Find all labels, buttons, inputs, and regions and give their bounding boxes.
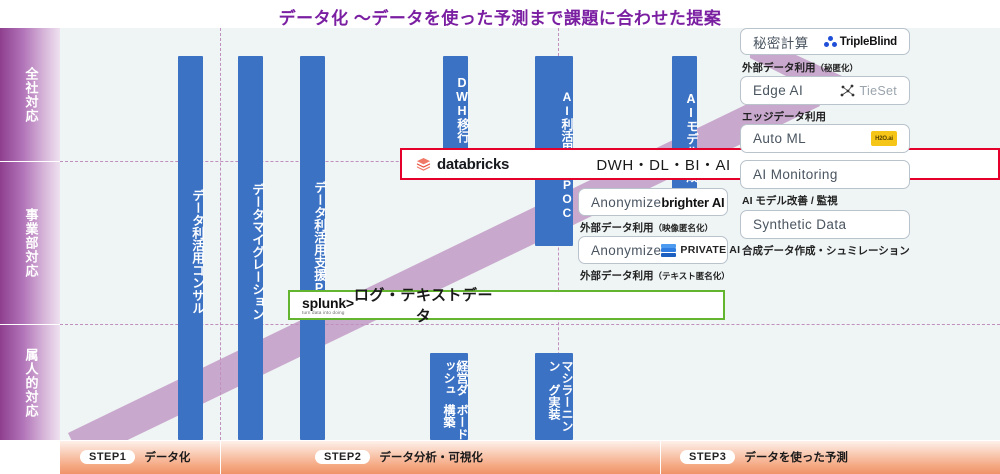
tieset-logo: TieSet (840, 84, 897, 98)
caption-synthetic-data-main: 合成データ作成・シュミレーション (742, 245, 910, 257)
caption-anonymize-video-sub: （映像匿名化） (654, 223, 714, 233)
caption-secure-computation: 外部データ利用（秘匿化） (742, 60, 858, 75)
brighter-ai-logo-text: brighter AI (661, 195, 724, 210)
splunk-logo-text: splunk> (302, 296, 354, 310)
page-title: データ化 ～データを使った予測まで課題に合わせた提案 (0, 4, 1000, 29)
caption-anonymize-text: 外部データ利用（テキスト匿名化） (580, 268, 730, 283)
card-ai-monitoring[interactable]: AI Monitoring (740, 160, 910, 189)
caption-secure-computation-sub: （秘匿化） (816, 63, 859, 73)
step-3-pill: STEP3 (680, 450, 735, 464)
bar-management-dashboard-label-1: 経営ダッシュ (442, 360, 468, 404)
databricks-logo-text: databricks (437, 156, 509, 173)
band-individual: 属人的対応 (0, 325, 60, 440)
tripleblind-logo: TripleBlind (824, 36, 897, 48)
splunk-logo-tagline: turn data into doing (302, 310, 345, 315)
bar-machine-learning[interactable]: マシン ラーニング実装 (535, 353, 573, 440)
splunk-logo: splunk> turn data into doing (290, 296, 354, 315)
caption-ai-monitoring: AI モデル改善 / 監視 (742, 193, 838, 208)
bar-data-utilization-poc[interactable]: データ利活用支援POC (300, 56, 325, 440)
step-1[interactable]: STEP1 データ化 (80, 449, 190, 465)
caption-anonymize-video: 外部データ利用（映像匿名化） (580, 220, 713, 235)
plot-area: データ利活用コンサル データマイグレーション データ利活用支援POC DWH移行… (60, 28, 1000, 440)
caption-secure-computation-main: 外部データ利用 (742, 62, 816, 74)
card-anonymize-video-name: Anonymize (591, 195, 661, 210)
step-2[interactable]: STEP2 データ分析・可視化 (315, 449, 483, 465)
card-anonymize-text-name: Anonymize (591, 243, 661, 258)
step-1-label: データ化 (144, 449, 190, 465)
step-divider-2 (660, 441, 661, 474)
card-synthetic-data-name: Synthetic Data (753, 217, 897, 232)
caption-synthetic-data: 合成データ作成・シュミレーション (742, 243, 910, 258)
bar-ai-utilization-poc-label-1: AI利活用 (560, 90, 573, 154)
step-3-label: データを使った予測 (744, 449, 848, 465)
caption-anonymize-video-main: 外部データ利用 (580, 222, 654, 234)
chart-frame: 全社対応 事業部対応 属人的対応 データ利活用コンサル データマイグレーション … (0, 28, 1000, 440)
tripleblind-dots-icon (824, 36, 837, 47)
card-anonymize-video[interactable]: Anonymize brighter AI (578, 188, 728, 216)
card-anonymize-text[interactable]: Anonymize PRIVATE AI (578, 236, 728, 264)
band-business-unit: 事業部対応 (0, 162, 60, 324)
caption-edge-ai: エッジデータ利用 (742, 109, 826, 124)
step-1-pill: STEP1 (80, 450, 135, 464)
bar-machine-learning-label-2: ラーニング実装 (547, 384, 573, 440)
card-edge-ai[interactable]: Edge AI TieSet (740, 76, 910, 105)
databricks-bar[interactable]: databricks DWH・DL・BI・AI (400, 148, 1000, 180)
splunk-bar-text: ログ・テキストデータ (354, 284, 723, 326)
card-secure-computation-name: 秘密計算 (753, 32, 824, 52)
brighter-ai-logo: brighter AI (661, 195, 724, 210)
caption-anonymize-text-main: 外部データ利用 (580, 270, 654, 282)
tieset-logo-text: TieSet (860, 84, 897, 98)
gridline-vertical-1 (220, 28, 221, 440)
step-bar: STEP1 データ化 STEP2 データ分析・可視化 STEP3 データを使った… (60, 441, 1000, 474)
step-2-label: データ分析・可視化 (379, 449, 483, 465)
private-ai-logo: PRIVATE AI (661, 244, 740, 257)
splunk-bar[interactable]: splunk> turn data into doing ログ・テキストデータ (288, 290, 725, 320)
caption-anonymize-text-sub: （テキスト匿名化） (654, 271, 730, 281)
bar-data-consulting[interactable]: データ利活用コンサル (178, 56, 203, 440)
private-ai-logo-text: PRIVATE AI (680, 244, 740, 256)
bar-dwh-migration[interactable]: DWH移行 (443, 56, 468, 156)
card-ai-monitoring-name: AI Monitoring (753, 167, 897, 182)
step-2-pill: STEP2 (315, 450, 370, 464)
databricks-logo: databricks (402, 156, 509, 173)
bar-management-dashboard-label-2: ボード構築 (442, 404, 468, 440)
h2o-ai-logo-text: H2O.ai (871, 131, 897, 146)
bar-data-migration[interactable]: データマイグレーション (238, 56, 263, 440)
caption-ai-monitoring-main: AI モデル改善 / 監視 (742, 195, 838, 207)
card-synthetic-data[interactable]: Synthetic Data (740, 210, 910, 239)
bar-machine-learning-label-1: マシン (547, 360, 573, 384)
tripleblind-logo-text: TripleBlind (840, 36, 897, 48)
h2o-ai-logo: H2O.ai (871, 131, 897, 146)
card-edge-ai-name: Edge AI (753, 83, 840, 98)
card-auto-ml[interactable]: Auto ML H2O.ai (740, 124, 910, 153)
bar-management-dashboard[interactable]: 経営ダッシュ ボード構築 (430, 353, 468, 440)
card-auto-ml-name: Auto ML (753, 131, 871, 146)
step-divider-1 (220, 441, 221, 474)
step-3[interactable]: STEP3 データを使った予測 (680, 449, 848, 465)
card-secure-computation[interactable]: 秘密計算 TripleBlind (740, 28, 910, 55)
band-company-wide: 全社対応 (0, 28, 60, 161)
caption-edge-ai-main: エッジデータ利用 (742, 111, 826, 123)
private-ai-stack-icon (661, 244, 676, 257)
